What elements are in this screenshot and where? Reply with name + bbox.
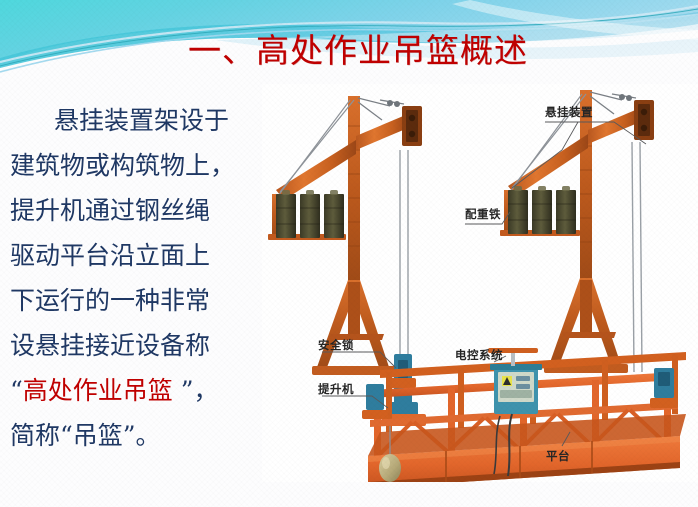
body-line-final: 简称“吊篮”。	[10, 413, 260, 458]
label-control-system: 电控系统	[455, 347, 503, 363]
label-platform: 平台	[546, 448, 570, 464]
body-paragraph: 悬挂装置架设于 建筑物或构筑物上， 提升机通过钢丝绳 驱动平台沿立面上 下运行的…	[10, 98, 260, 458]
close-quote: ”，	[173, 376, 219, 405]
left-suspension-unit	[268, 96, 422, 375]
right-suspension-unit	[500, 90, 654, 373]
label-counterweight: 配重铁	[465, 206, 501, 222]
equipment-photo: 悬挂装置 配重铁 安全锁 提升机 电控系统 平台	[262, 84, 698, 482]
counterweight-blocks-left	[276, 190, 344, 238]
body-line-3: 提升机通过钢丝绳	[10, 188, 260, 233]
body-line-4: 驱动平台沿立面上	[10, 233, 260, 278]
counterweight-blocks-right	[508, 186, 576, 234]
body-line-quoted: “高处作业吊篮 ”，	[10, 368, 260, 413]
body-line-1: 悬挂装置架设于	[10, 98, 260, 143]
body-line-2: 建筑物或构筑物上，	[10, 143, 260, 188]
label-suspension-device: 悬挂装置	[545, 104, 593, 120]
equipment-illustration	[262, 84, 698, 482]
highlighted-term: 高处作业吊篮	[23, 376, 173, 405]
label-hoist: 提升机	[318, 381, 354, 397]
slide-title: 一、高处作业吊篮概述	[188, 28, 528, 74]
right-hoist	[650, 368, 678, 408]
body-line-5: 下运行的一种非常	[10, 278, 260, 323]
open-quote: “	[10, 376, 23, 405]
slide-canvas: 一、高处作业吊篮概述 悬挂装置架设于 建筑物或构筑物上， 提升机通过钢丝绳 驱动…	[0, 0, 698, 507]
body-line-6: 设悬挂接近设备称	[10, 323, 260, 368]
label-safety-lock: 安全锁	[318, 337, 354, 353]
